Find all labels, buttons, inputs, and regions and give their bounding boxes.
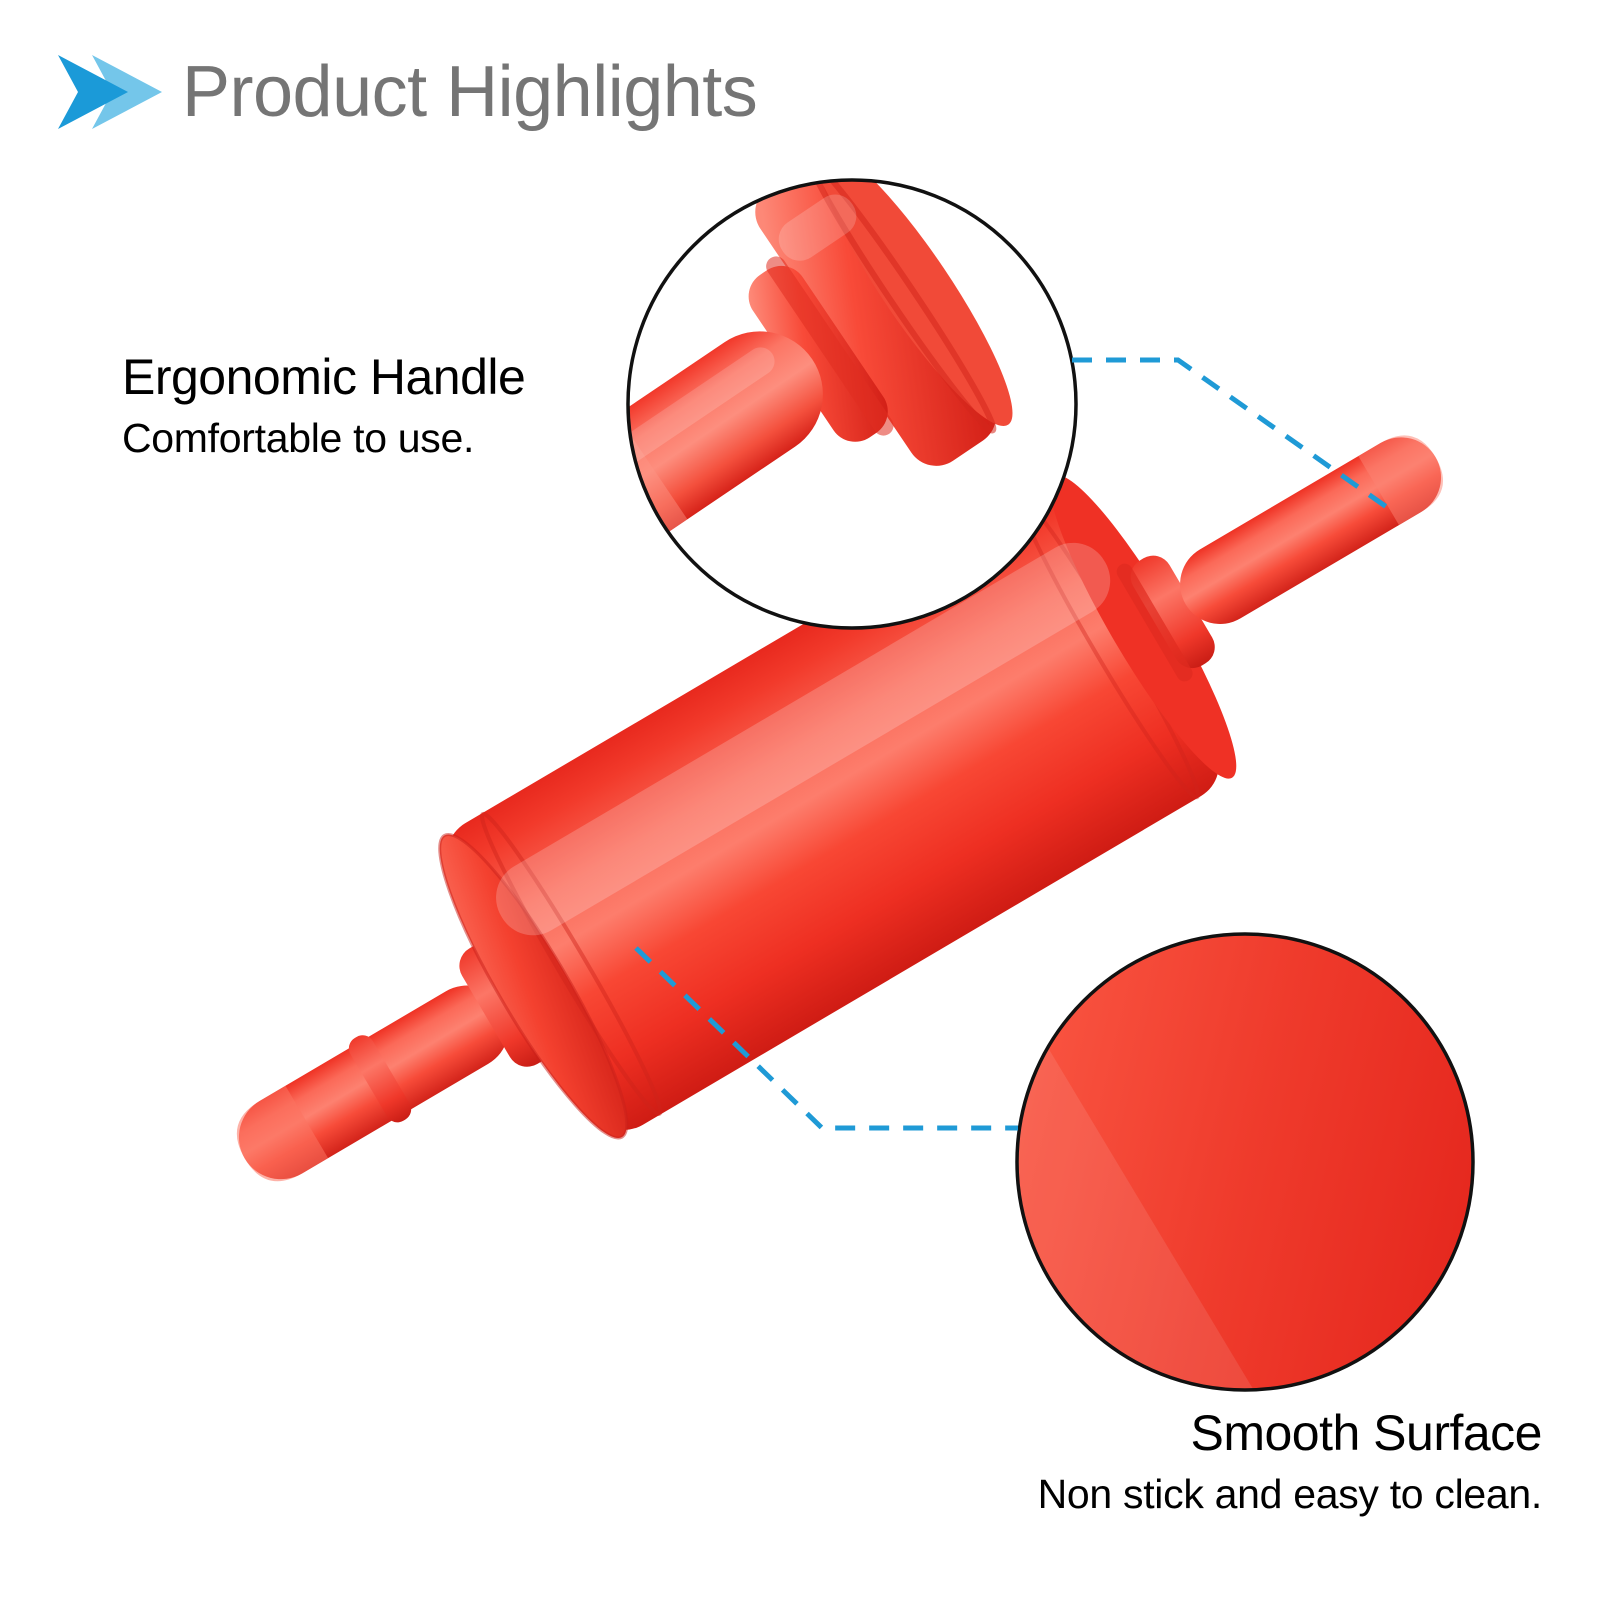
product-illustration: [0, 0, 1600, 1600]
callout-smooth-surface: Smooth Surface Non stick and easy to cle…: [1038, 1404, 1542, 1520]
product-highlights-infographic: Product Highlights Ergonomic Handle Comf…: [0, 0, 1600, 1600]
right-handle: [1165, 423, 1455, 639]
callout-title: Ergonomic Handle: [122, 348, 525, 406]
callout-ergonomic-handle: Ergonomic Handle Comfortable to use.: [122, 348, 525, 464]
double-chevron-arrow-icon: [56, 51, 166, 133]
page-title: Product Highlights: [182, 54, 757, 130]
callout-subtitle: Comfortable to use.: [122, 412, 525, 464]
callout-subtitle: Non stick and easy to clean.: [1038, 1468, 1542, 1520]
callout-title: Smooth Surface: [1038, 1404, 1542, 1462]
page-header: Product Highlights: [56, 44, 757, 140]
